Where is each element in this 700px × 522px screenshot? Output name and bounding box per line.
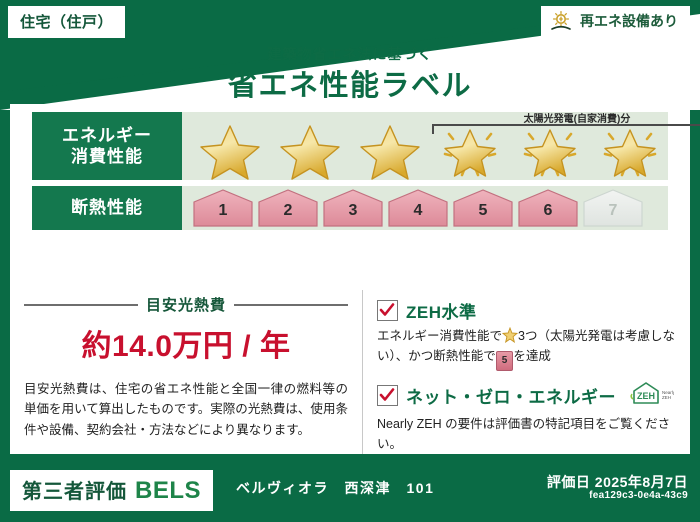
zeh-standard-description: エネルギー消費性能で3つ（太陽光発電は考慮しない）、かつ断熱性能で5を達成: [377, 326, 678, 371]
star-icon: [272, 120, 348, 180]
label-subtitle: 建築物省エネ法に基づく: [0, 44, 700, 64]
performance-section: エネルギー 消費性能 太陽光発電(自家消費)分: [32, 112, 668, 236]
insulation-level-number: 5: [452, 202, 514, 220]
insulation-level-5: 5: [452, 189, 514, 227]
star-icon-solar: [592, 120, 668, 180]
zeh-logo-icon: ZEH Nearly ZEH: [628, 380, 674, 411]
insulation-level-7: 7: [582, 189, 644, 227]
sun-icon: [549, 10, 573, 32]
energy-performance-row: エネルギー 消費性能 太陽光発電(自家消費)分: [32, 112, 668, 180]
svg-text:ZEH: ZEH: [662, 395, 671, 400]
renewable-energy-badge: 再エネ設備あり: [541, 6, 690, 36]
insulation-performance-row: 断熱性能 1: [32, 186, 668, 230]
insulation-level-number: 3: [322, 202, 384, 220]
utility-cost-description: 目安光熱費は、住宅の省エネ性能と全国一律の燃料等の単価を用いて算出したものです。…: [24, 379, 348, 440]
utility-cost-heading: 目安光熱費: [24, 294, 348, 315]
star-icon: [192, 120, 268, 180]
rule-left: [24, 304, 138, 306]
label-title: 省エネ性能ラベル: [0, 62, 700, 104]
zeh-panel: ZEH水準 エネルギー消費性能で3つ（太陽光発電は考慮しない）、かつ断熱性能で5…: [362, 290, 690, 454]
star-icon-solar: [432, 120, 508, 180]
net-zero-description: Nearly ZEH の要件は評価書の特記項目をご覧ください。: [377, 414, 678, 454]
label-footer: 第三者評価 BELS ベルヴィオラ 西深津 101 評価日 2025年8月7日 …: [0, 462, 700, 522]
insulation-level-4: 4: [387, 189, 449, 227]
rule-right: [234, 304, 348, 306]
bels-logo-text: BELS: [135, 477, 201, 505]
checkbox-checked-icon: [377, 385, 398, 406]
zeh-standard-row: ZEH水準: [377, 298, 678, 323]
bels-certification-mark: 第三者評価 BELS: [10, 470, 213, 511]
insulation-level-2: 2: [257, 189, 319, 227]
renewable-energy-label: 再エネ設備あり: [580, 11, 678, 31]
insulation-level-1: 1: [192, 189, 254, 227]
star-icon: [352, 120, 428, 180]
net-zero-title: ネット・ゼロ・エネルギー: [406, 383, 616, 408]
insulation-badge-inline: 5: [496, 351, 514, 371]
evaluation-id: fea129c3-0e4a-43c9: [589, 490, 688, 501]
star-rating: [192, 120, 668, 180]
energy-label-line1: エネルギー: [62, 125, 152, 146]
insulation-levels-area: 1 2 3 4: [182, 186, 668, 230]
insulation-level-scale: 1 2 3 4: [192, 186, 644, 230]
insulation-level-number: 6: [517, 202, 579, 220]
insulation-level-number: 1: [192, 202, 254, 220]
insulation-level-number: 4: [387, 202, 449, 220]
zeh-desc-part3: を達成: [513, 349, 551, 363]
utility-cost-value: 約14.0万円 / 年: [24, 321, 348, 365]
checkbox-checked-icon: [377, 300, 398, 321]
insulation-level-3: 3: [322, 189, 384, 227]
insulation-level-number: 2: [257, 202, 319, 220]
net-zero-row: ネット・ゼロ・エネルギー ZEH Nearly ZEH: [377, 380, 678, 411]
star-icon-inline: [502, 327, 518, 343]
third-party-eval-label: 第三者評価: [22, 475, 127, 504]
energy-label-line2: 消費性能: [71, 146, 143, 167]
insulation-level-number: 7: [582, 202, 644, 220]
energy-stars-area: 太陽光発電(自家消費)分: [182, 112, 668, 180]
insulation-performance-label: 断熱性能: [32, 186, 182, 230]
zeh-desc-part1: エネルギー消費性能で: [377, 329, 502, 343]
lower-section: 目安光熱費 約14.0万円 / 年 目安光熱費は、住宅の省エネ性能と全国一律の燃…: [10, 290, 690, 454]
utility-cost-title: 目安光熱費: [146, 294, 226, 315]
building-type-tag: 住宅（住戸）: [8, 6, 125, 38]
insulation-level-6: 6: [517, 189, 579, 227]
zeh-desc-star-count: 3つ（太陽光発電: [518, 329, 612, 343]
star-icon-solar: [512, 120, 588, 180]
building-name: ベルヴィオラ 西深津 101: [236, 478, 434, 498]
zeh-standard-title: ZEH水準: [406, 298, 477, 323]
evaluation-date: 評価日 2025年8月7日: [547, 472, 688, 492]
svg-text:ZEH: ZEH: [637, 391, 655, 401]
utility-cost-panel: 目安光熱費 約14.0万円 / 年 目安光熱費は、住宅の省エネ性能と全国一律の燃…: [10, 290, 362, 454]
label-card: エネルギー 消費性能 太陽光発電(自家消費)分: [10, 104, 690, 454]
energy-performance-label: 住宅（住戸） 再エネ設備あり 建築物省エネ法に基づく 省エネ性能ラベル エネルギ…: [0, 0, 700, 522]
energy-performance-label: エネルギー 消費性能: [32, 112, 182, 180]
